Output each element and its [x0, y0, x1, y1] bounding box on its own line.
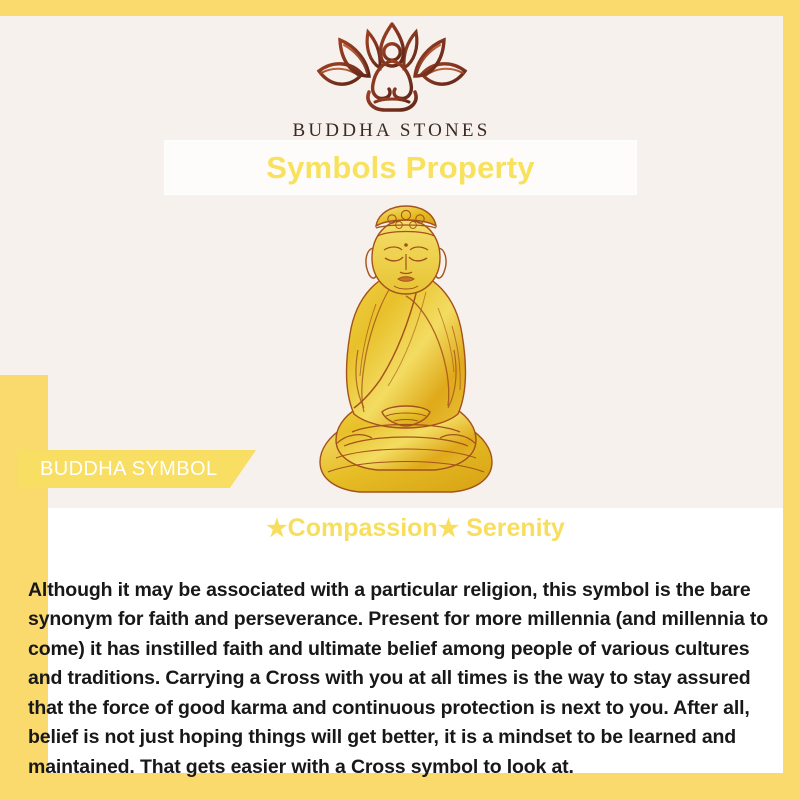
buddha-symbol-tag: BUDDHA SYMBOL	[18, 450, 256, 488]
star-icon-right: ★	[438, 515, 460, 542]
golden-seated-buddha-icon	[306, 200, 506, 500]
brand-logo: BUDDHA STONES	[0, 18, 783, 142]
brand-name: BUDDHA STONES	[0, 120, 783, 142]
poster-root: BUDDHA STONES Symbols Property	[0, 0, 800, 800]
buddha-symbol-tag-label: BUDDHA SYMBOL	[18, 458, 217, 481]
headline-word-serenity: Serenity	[459, 514, 565, 542]
section-headline: ★Compassion★ Serenity	[48, 514, 783, 543]
star-icon-left: ★	[266, 515, 288, 542]
page-title: Symbols Property	[266, 150, 535, 186]
headline-word-compassion: Compassion	[288, 514, 438, 542]
title-banner: Symbols Property	[165, 141, 636, 194]
description-paragraph: Although it may be associated with a par…	[28, 576, 773, 783]
lotus-meditation-figure-icon	[0, 18, 783, 118]
